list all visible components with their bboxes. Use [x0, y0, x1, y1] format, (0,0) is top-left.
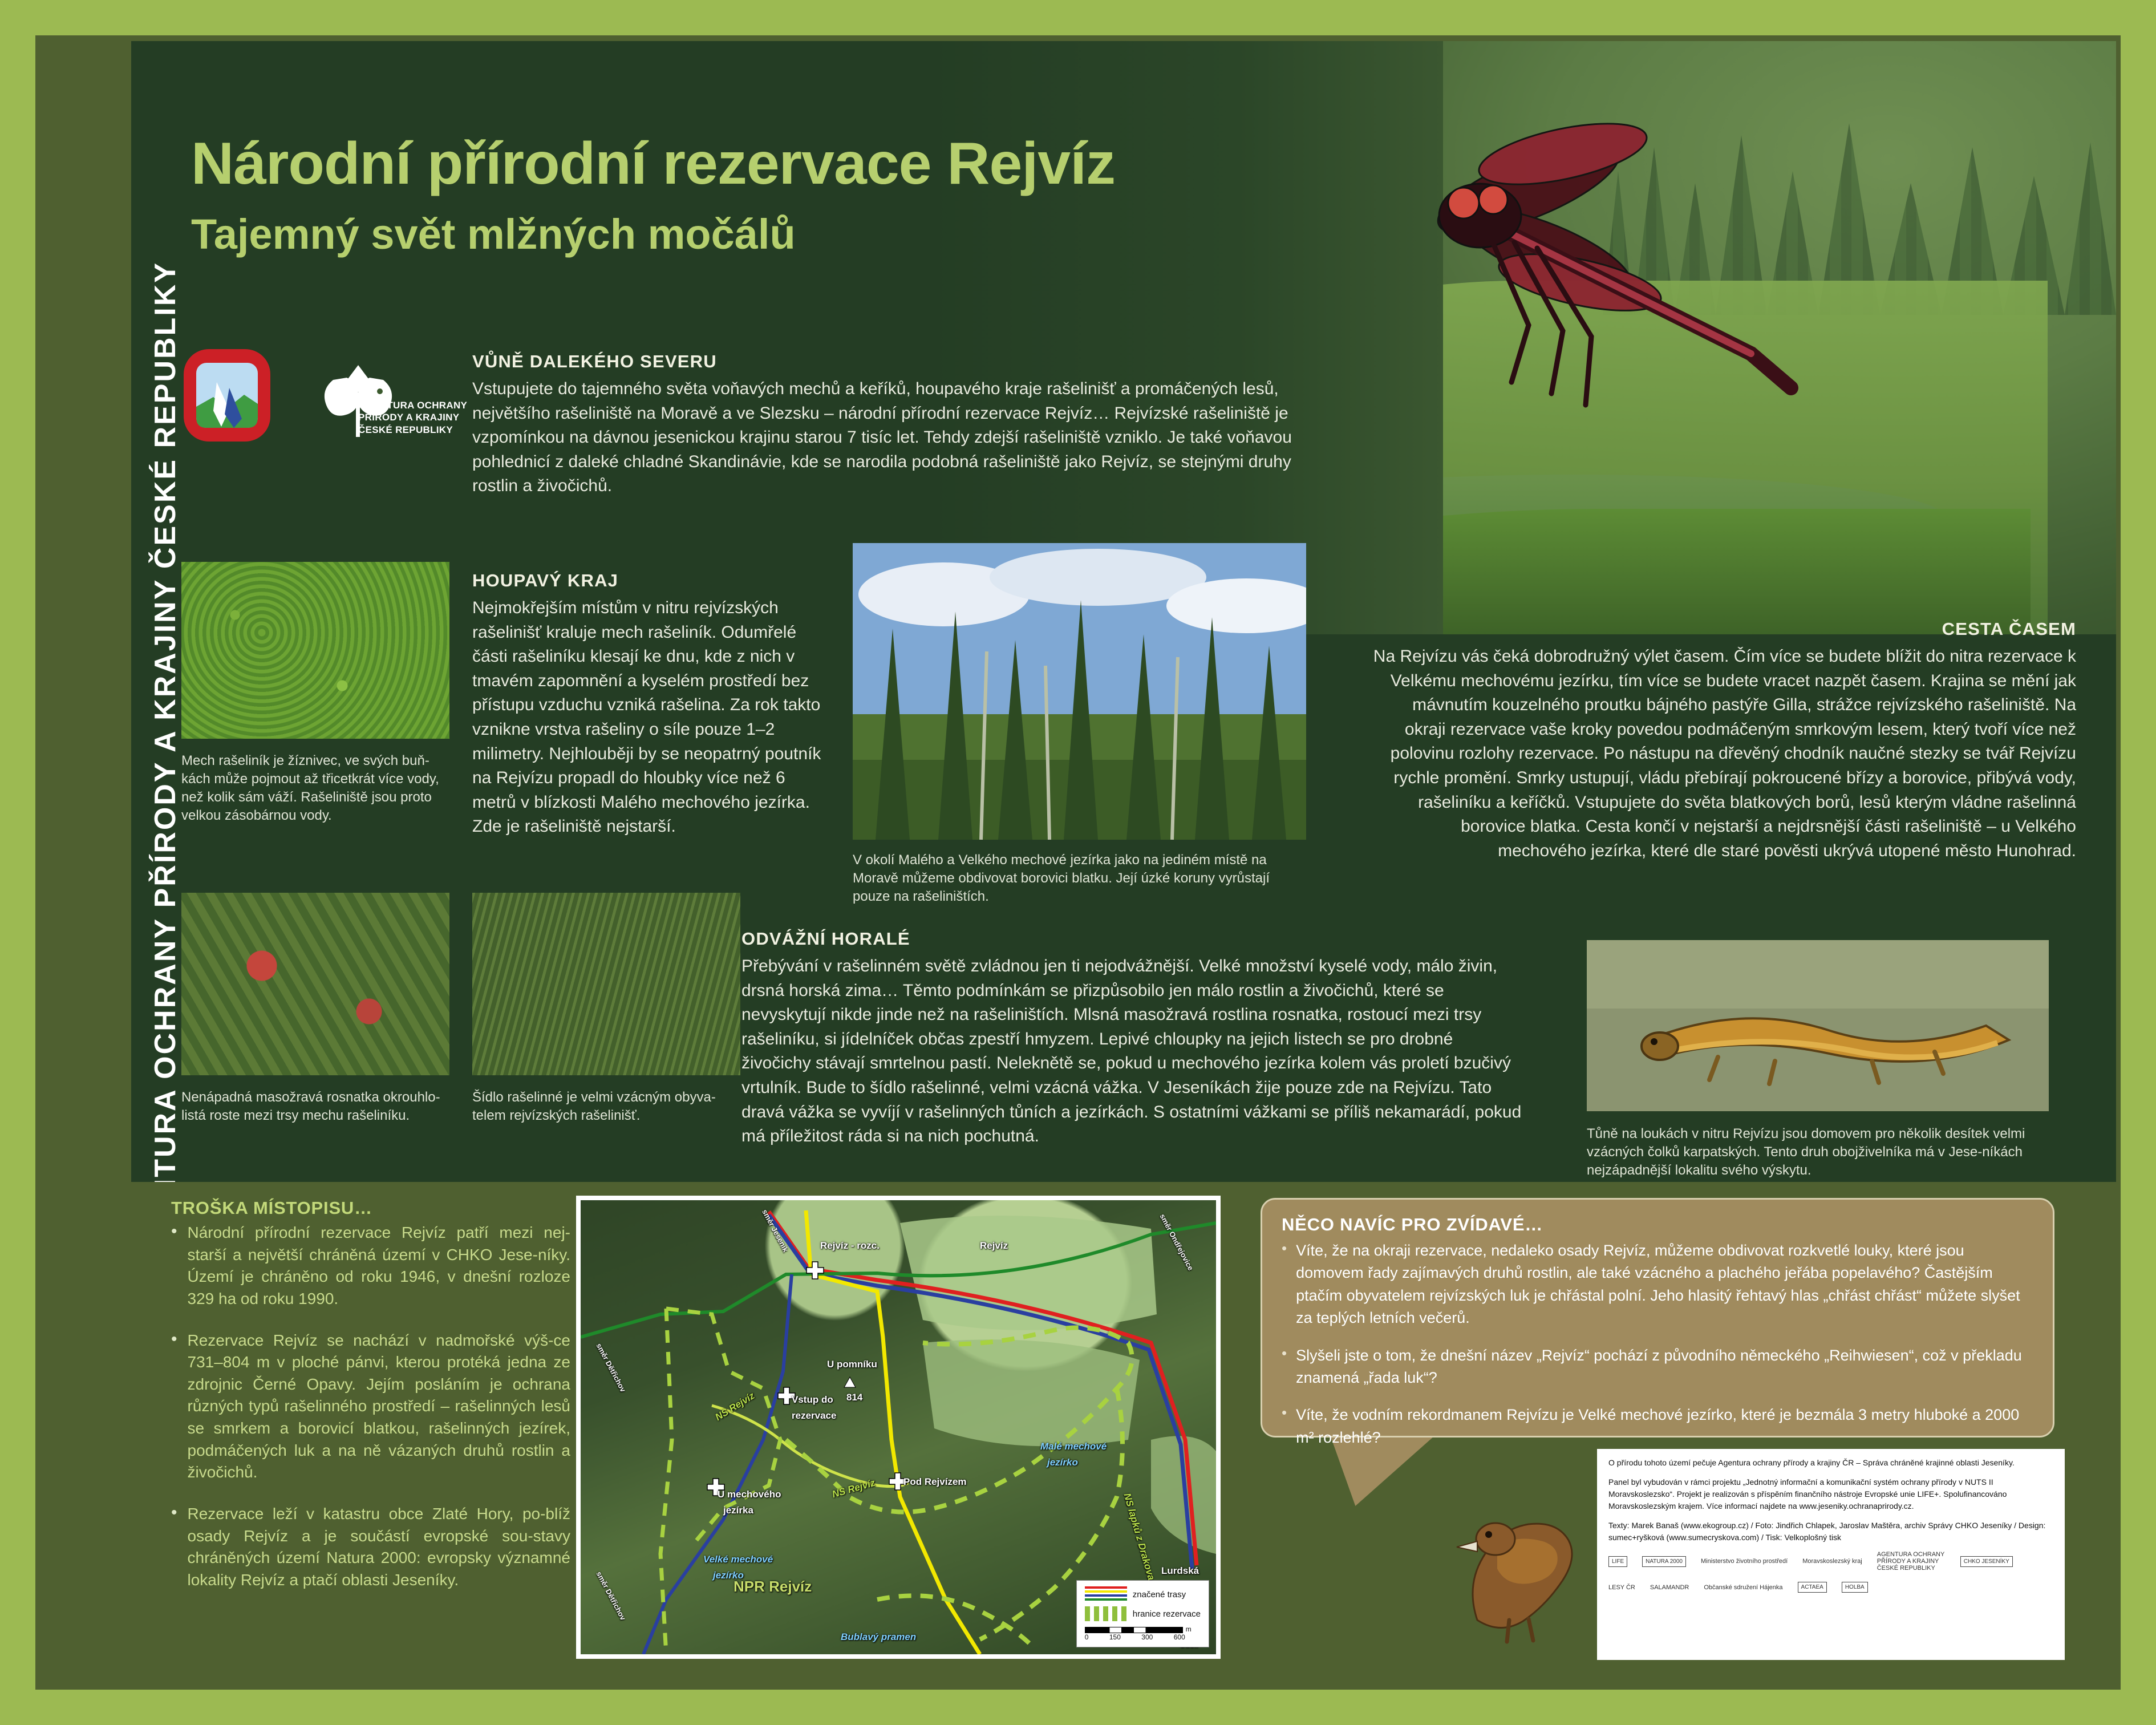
section-heading: TROŠKA MÍSTOPISU… [171, 1198, 570, 1218]
section-body: Na Rejvízu vás čeká dobrodružný výlet ča… [1369, 645, 2076, 863]
logo-aopk-small: AGENTURA OCHRANY PŘÍRODY A KRAJINY ČESKÉ… [1877, 1551, 1946, 1572]
sponsor-logo-strip: LIFE NATURA 2000 Ministerstvo životního … [1608, 1551, 2053, 1593]
photo-sundew-drosera [181, 893, 449, 1075]
map-legend: značené trasy hranice rezervace m 0 150 … [1076, 1580, 1209, 1647]
section-heading: ODVÁŽNÍ HORALÉ [741, 929, 1523, 949]
map-label: Pod Rejvízem [903, 1476, 967, 1488]
scale-unit: m [1186, 1625, 1192, 1633]
bubble-heading: NĚCO NAVÍC PRO ZVÍDAVÉ… [1282, 1214, 2033, 1235]
corncrake-bird-illustration [1443, 1477, 1591, 1649]
caption-forest: V okolí Malého a Velkého mechové jezírka… [853, 851, 1309, 906]
bullet-icon: • [1282, 1345, 1287, 1390]
list-item: • Slyšeli jste o tom, že dnešní název „R… [1282, 1345, 2033, 1390]
information-panel: AGENTURA OCHRANY PŘÍRODY A KRAJINY ČESKÉ… [0, 0, 2156, 1725]
logo-chko-jeseniky-small: CHKO JESENÍKY [1960, 1556, 2013, 1567]
photo-sphagnum-moss [181, 562, 449, 739]
credits-paragraph-2: Panel byl vybudován v rámci projektu „Je… [1608, 1476, 2053, 1512]
map-label: Rejvíz - rozc. [820, 1240, 880, 1252]
map-label: Rejvíz [980, 1240, 1008, 1252]
map-label: jezírko [1047, 1457, 1078, 1468]
map-label: Velké mechové [703, 1554, 773, 1565]
bullet-icon: • [171, 1222, 177, 1310]
list-item-text: Víte, že na okraji rezervace, nedaleko o… [1296, 1240, 2033, 1330]
legend-boundary-label: hranice rezervace [1133, 1609, 1201, 1619]
map-label: U pomníku [827, 1359, 877, 1370]
legend-row-routes: značené trasy [1085, 1586, 1201, 1602]
bullet-icon: • [1282, 1404, 1287, 1449]
logo-moravskoslezsky-kraj: Moravskoslezský kraj [1802, 1558, 1862, 1565]
aopk-line-2: PŘÍRODY A KRAJINY [358, 411, 467, 423]
section-troska-mistopisu: TROŠKA MÍSTOPISU… • Národní přírodní rez… [171, 1198, 570, 1610]
speech-bubble-neco-navic: NĚCO NAVÍC PRO ZVÍDAVÉ… • Víte, že na ok… [1261, 1198, 2054, 1437]
section-heading: VŮNĚ DALEKÉHO SEVERU [472, 351, 1328, 372]
list-item-text: Slyšeli jste o tom, že dnešní název „Rej… [1296, 1345, 2033, 1390]
legend-row-boundary: hranice rezervace [1085, 1606, 1201, 1621]
map-image[interactable]: Rejvíz - rozc. Rejvíz směr Jeseník směr … [581, 1200, 1216, 1654]
logo-life: LIFE [1608, 1556, 1627, 1567]
aopk-logo-text: AGENTURA OCHRANY PŘÍRODY A KRAJINY ČESKÉ… [358, 399, 467, 436]
map-label: rezervace [792, 1410, 836, 1422]
scale-tick-labels: 0 150 300 600 [1085, 1633, 1185, 1641]
map-label: U mechového [718, 1489, 781, 1500]
list-item: • Národní přírodní rezervace Rejvíz patř… [171, 1222, 570, 1310]
scale-tick: 0 [1085, 1633, 1089, 1641]
section-body: Vstupujete do tajemného světa voňavých m… [472, 377, 1328, 499]
list-item-text: Víte, že vodním rekordmanem Rejvízu je V… [1296, 1404, 2033, 1449]
list-item-text: Rezervace Rejvíz se nachází v nadmořské … [188, 1330, 570, 1484]
logo-ministry: Ministerstvo životního prostředí [1701, 1558, 1788, 1565]
map-label: 814 [846, 1392, 862, 1403]
credits-infobox: O přírodu tohoto území pečuje Agentura o… [1597, 1449, 2065, 1660]
aopk-line-3: ČESKÉ REPUBLIKY [358, 424, 467, 436]
route-color-swatches [1085, 1586, 1127, 1602]
caption-newt: Tůně na loukách v nitru Rejvízu jsou dom… [1587, 1125, 2060, 1180]
map-label: Bublavý pramen [841, 1631, 916, 1643]
map-label: jezírka [723, 1505, 753, 1516]
logo-salamandr: SALAMANDR [1650, 1584, 1689, 1591]
list-item: • Víte, že na okraji rezervace, nedaleko… [1282, 1240, 2033, 1330]
bullet-icon: • [171, 1503, 177, 1592]
logo-hajenka: Občanské sdružení Hájenka [1704, 1584, 1782, 1591]
photo-carpathian-newt [1587, 940, 2049, 1111]
photo-bog-pine-forest [853, 543, 1306, 840]
photo-bog-dragonfly-habitat [472, 893, 740, 1075]
section-body: Nejmokřejším místům v nitru rejvízských … [472, 596, 826, 839]
caption-moss: Mech rašeliník je žíznivec, ve svých buň… [181, 752, 449, 825]
map-label: Vstup do [792, 1394, 833, 1406]
scale-tick: 300 [1141, 1633, 1153, 1641]
dragonfly-illustration [1357, 86, 1825, 519]
section-houpavy-kraj: HOUPAVÝ KRAJ Nejmokřejším místům v nitru… [472, 570, 826, 839]
page-subtitle: Tajemný svět mlžných močálů [191, 210, 796, 258]
logo-holba: HOLBA [1842, 1582, 1868, 1593]
reserve-map[interactable]: Rejvíz - rozc. Rejvíz směr Jeseník směr … [576, 1196, 1221, 1659]
caption-spider: Šídlo rašelinné je velmi vzácným obyva-t… [472, 1088, 740, 1125]
list-item: • Rezervace leží v katastru obce Zlaté H… [171, 1503, 570, 1592]
list-item: • Rezervace Rejvíz se nachází v nadmořsk… [171, 1330, 570, 1484]
side-strip: AGENTURA OCHRANY PŘÍRODY A KRAJINY ČESKÉ… [63, 41, 131, 1690]
map-scale-bar: m 0 150 300 600 [1085, 1625, 1201, 1641]
scale-tick: 600 [1174, 1633, 1185, 1641]
logo-natura2000: NATURA 2000 [1642, 1556, 1686, 1567]
section-cesta-casem: CESTA ČASEM Na Rejvízu vás čeká dobrodru… [1369, 619, 2076, 863]
bullet-icon: • [171, 1330, 177, 1484]
caption-sundew: Nenápadná masožravá rosnatka okrouhlo-li… [181, 1088, 449, 1125]
section-odvazni-horale: ODVÁŽNÍ HORALÉ Přebývání v rašelinném sv… [741, 929, 1523, 1149]
credits-paragraph-3: Texty: Marek Banaš (www.ekogroup.cz) / F… [1608, 1520, 2053, 1544]
scale-tick: 150 [1109, 1633, 1121, 1641]
aopk-line-1: AGENTURA OCHRANY [358, 399, 467, 411]
legend-routes-label: značené trasy [1133, 1590, 1186, 1600]
section-body: Přebývání v rašelinném světě zvládnou je… [741, 954, 1523, 1149]
logo-lesy-cr: LESY ČR [1608, 1584, 1635, 1591]
page-title: Národní přírodní rezervace Rejvíz [191, 130, 1115, 198]
boundary-dash-swatch [1085, 1606, 1127, 1621]
bullet-icon: • [1282, 1240, 1287, 1330]
map-label: Malé mechové [1040, 1441, 1107, 1452]
chko-jeseniky-logo [181, 347, 273, 444]
section-heading: CESTA ČASEM [1369, 619, 2076, 639]
map-area-label: NPR Rejvíz [733, 1578, 812, 1596]
credits-paragraph-1: O přírodu tohoto území pečuje Agentura o… [1608, 1457, 2053, 1469]
list-item-text: Národní přírodní rezervace Rejvíz patří … [188, 1222, 570, 1310]
map-label: Lurdská [1161, 1565, 1199, 1577]
scale-bar-graphic [1085, 1627, 1183, 1633]
list-item: • Víte, že vodním rekordmanem Rejvízu je… [1282, 1404, 2033, 1449]
section-heading: HOUPAVÝ KRAJ [472, 570, 826, 591]
section-vune-dalekeho-severu: VŮNĚ DALEKÉHO SEVERU Vstupujete do tajem… [472, 351, 1328, 499]
list-item-text: Rezervace leží v katastru obce Zlaté Hor… [188, 1503, 570, 1592]
logo-actaea: ACTAEA [1798, 1582, 1827, 1593]
